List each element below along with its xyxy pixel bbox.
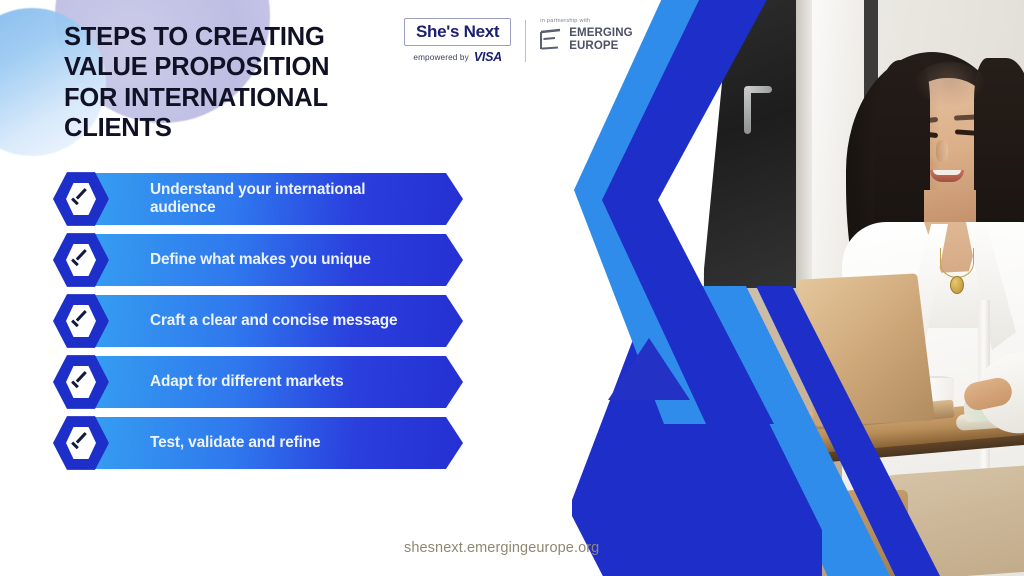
checkmark-glyph [72, 192, 91, 203]
step-banner: Understand your international audience [75, 173, 463, 225]
list-item[interactable]: Understand your international audience [53, 173, 463, 225]
step-label: Craft a clear and concise message [75, 312, 427, 330]
check-icon [53, 415, 109, 471]
emerging-europe-mark-icon [539, 28, 563, 52]
page-title: STEPS TO CREATING VALUE PROPOSITION FOR … [64, 22, 394, 143]
check-icon [53, 232, 109, 288]
checkmark-glyph [72, 436, 91, 447]
step-banner: Define what makes you unique [75, 234, 463, 286]
emerging-europe-lockup: EMERGING EUROPE [539, 27, 632, 53]
page-title-line-4: CLIENTS [64, 114, 172, 142]
list-item[interactable]: Craft a clear and concise message [53, 295, 463, 347]
emerging-europe-name: EMERGING EUROPE [569, 27, 632, 53]
checkmark-glyph [72, 314, 91, 325]
right-graphic-panel [560, 0, 1024, 576]
website-url[interactable]: shesnext.emergingeurope.org [404, 540, 599, 556]
emerging-europe-logo: in partnership with EMERGING EUROPE [539, 18, 632, 53]
step-banner: Test, validate and refine [75, 417, 463, 469]
photo-window-handle [744, 88, 751, 134]
list-item[interactable]: Define what makes you unique [53, 234, 463, 286]
emerging-europe-name-line-2: EUROPE [569, 40, 618, 52]
check-icon [53, 171, 109, 227]
logo-divider [525, 20, 526, 62]
page-title-line-3: FOR INTERNATIONAL [64, 84, 328, 112]
emerging-europe-name-line-1: EMERGING [569, 27, 632, 39]
step-banner: Craft a clear and concise message [75, 295, 463, 347]
shes-next-wordmark: She's Next [404, 18, 511, 46]
steps-list: Understand your international audience D… [53, 173, 463, 469]
step-label: Define what makes you unique [75, 251, 401, 269]
empowered-by-label: empowered by [413, 53, 469, 62]
photo-nose [936, 140, 948, 162]
photo-hair-highlight [914, 62, 986, 108]
visa-wordmark: VISA [474, 50, 502, 64]
page-title-line-2: VALUE PROPOSITION [64, 53, 329, 81]
photo-teeth [933, 170, 961, 175]
step-label: Understand your international audience [75, 181, 463, 217]
in-partnership-with-label: in partnership with [540, 18, 632, 24]
list-item[interactable]: Test, validate and refine [53, 417, 463, 469]
photo-pendant [950, 276, 964, 294]
step-label: Adapt for different markets [75, 373, 374, 391]
step-label: Test, validate and refine [75, 434, 350, 452]
page-title-line-1: STEPS TO CREATING [64, 23, 325, 51]
check-icon [53, 354, 109, 410]
photo-necklace [940, 248, 974, 278]
checkmark-glyph [72, 253, 91, 264]
slide-canvas: STEPS TO CREATING VALUE PROPOSITION FOR … [0, 0, 1024, 576]
list-item[interactable]: Adapt for different markets [53, 356, 463, 408]
step-banner: Adapt for different markets [75, 356, 463, 408]
checkmark-glyph [72, 375, 91, 386]
shes-next-logo: She's Next empowered by VISA [404, 18, 511, 64]
check-icon [53, 293, 109, 349]
logo-group: She's Next empowered by VISA in partners… [404, 18, 633, 64]
shes-next-tagline: empowered by VISA [413, 50, 502, 64]
